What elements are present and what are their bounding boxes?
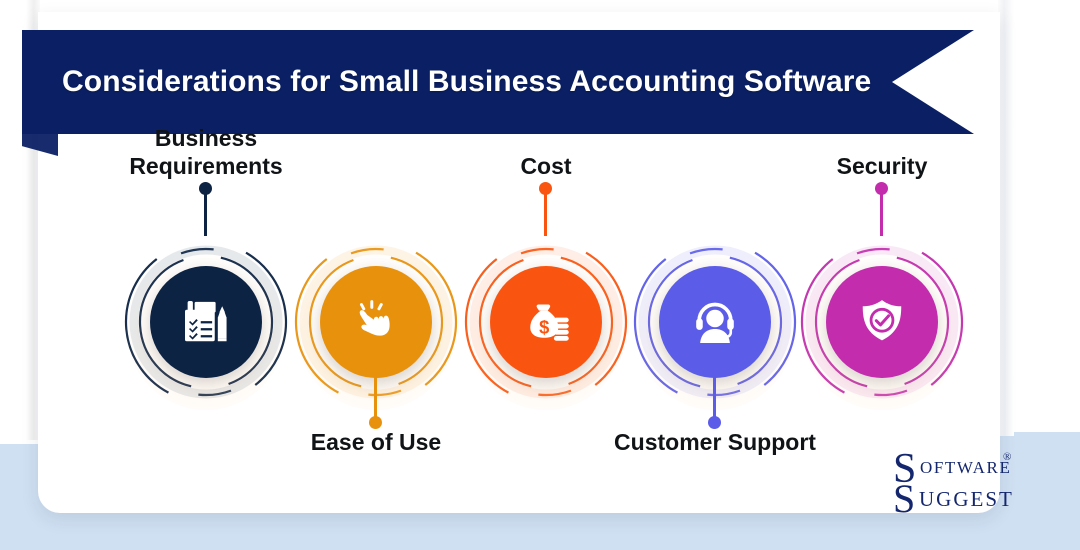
registered-trademark-icon: ® bbox=[1003, 451, 1011, 463]
node-label: Business Requirements bbox=[81, 124, 331, 180]
page-edge-shadow-right bbox=[998, 0, 1014, 436]
connector-line bbox=[204, 188, 207, 236]
node-label: Cost bbox=[421, 152, 671, 180]
icon-node[interactable]: Ease of Use bbox=[286, 232, 466, 532]
checklist-clipboard-pencil-icon bbox=[178, 294, 234, 350]
connector-line bbox=[374, 366, 377, 422]
icon-disc[interactable] bbox=[659, 266, 771, 378]
infographic-canvas: Considerations for Small Business Accoun… bbox=[0, 0, 1080, 550]
connector-line bbox=[880, 188, 883, 236]
svg-text:$: $ bbox=[539, 316, 549, 337]
icon-node[interactable]: Business Requirements bbox=[116, 232, 296, 532]
icon-node[interactable]: $ Cost bbox=[456, 232, 636, 532]
icon-disc[interactable] bbox=[150, 266, 262, 378]
connector-dot bbox=[875, 182, 888, 195]
logo-word-software: oftware bbox=[920, 457, 1011, 479]
money-bag-coins-icon: $ bbox=[518, 294, 574, 350]
connector-dot bbox=[539, 182, 552, 195]
icon-node[interactable]: Customer Support bbox=[625, 232, 805, 532]
tapping-hand-icon bbox=[348, 294, 404, 350]
headset-support-agent-icon bbox=[687, 294, 743, 350]
title-banner: Considerations for Small Business Accoun… bbox=[22, 30, 974, 135]
connector-line bbox=[544, 188, 547, 236]
icon-disc[interactable]: $ bbox=[490, 266, 602, 378]
logo-capital-s2: S bbox=[893, 479, 915, 519]
icon-disc[interactable] bbox=[320, 266, 432, 378]
node-label: Security bbox=[757, 152, 1007, 180]
icon-disc[interactable] bbox=[826, 266, 938, 378]
softwaresuggest-logo: S oftware ® S uggest bbox=[893, 452, 1033, 508]
logo-word-suggest: uggest bbox=[919, 489, 1014, 510]
shield-check-icon bbox=[854, 294, 910, 350]
connector-line bbox=[713, 366, 716, 422]
page-title: Considerations for Small Business Accoun… bbox=[62, 30, 871, 134]
connector-dot bbox=[199, 182, 212, 195]
